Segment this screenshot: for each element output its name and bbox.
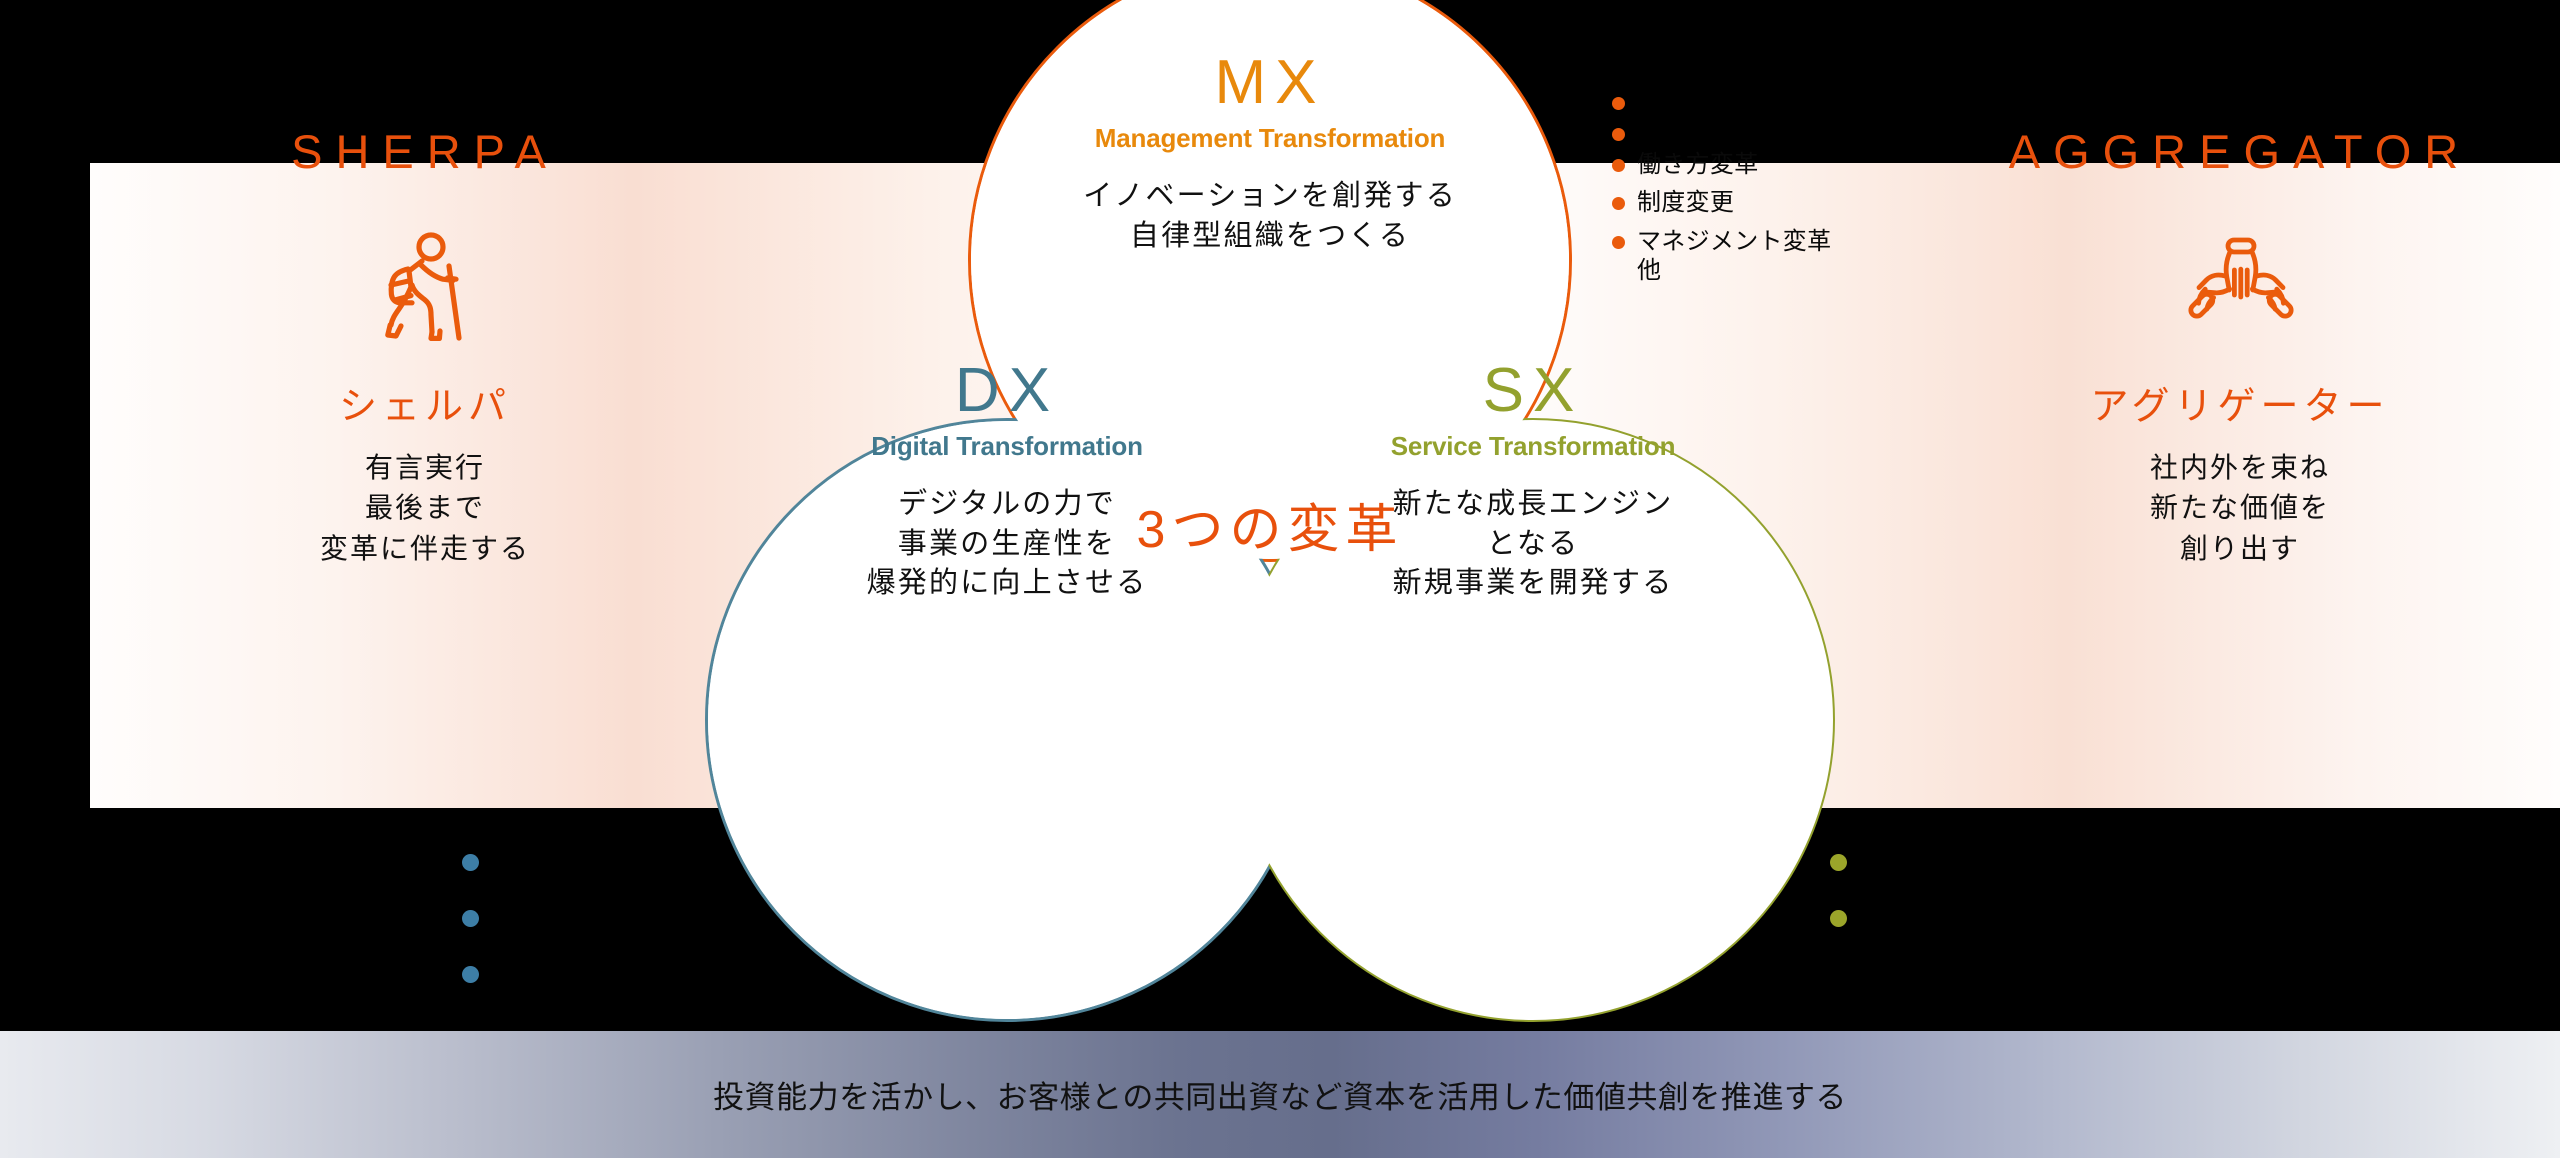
hiker-with-backpack-icon xyxy=(165,223,685,348)
venn-abbr-dx: DX xyxy=(705,360,1309,422)
list-item xyxy=(462,845,792,871)
list-item xyxy=(1830,845,2160,871)
bullet-dot-icon xyxy=(462,910,479,927)
venn-abbr-sx: SX xyxy=(1231,360,1835,422)
venn-description-dx-line3: 爆発的に向上させる xyxy=(705,564,1309,604)
sherpa-description-line3: 変革に伴走する xyxy=(165,529,685,569)
aggregator-eyebrow: AGGREGATOR xyxy=(1980,128,2500,175)
venn-content-dx: DX Digital Transformation デジタルの力で 事業の生産性… xyxy=(705,360,1309,604)
center-label-three-transformations: 3つの変革 xyxy=(1030,487,1510,562)
list-item: 制度変更 xyxy=(1612,188,1942,217)
bullet-list-mx: 働き方変革 制度変更 マネジメント変革 他 xyxy=(1612,88,1942,294)
aggregator-description-line2: 新たな価値を xyxy=(1980,488,2500,528)
list-item xyxy=(1612,88,1942,110)
aggregator-description: 社内外を束ね 新たな価値を 創り出す xyxy=(1980,448,2500,569)
venn-fullname-sx: Service Transformation xyxy=(1231,433,1835,459)
bullet-list-dx xyxy=(462,845,792,1013)
venn-description-mx-line2: 自律型組織をつくる xyxy=(968,217,1572,257)
bullet-list-sx xyxy=(1830,845,2160,957)
sherpa-description: 有言実行 最後まで 変革に伴走する xyxy=(165,448,685,569)
list-item: 働き方変革 xyxy=(1612,150,1942,179)
venn-content-mx: MX Management Transformation イノベーションを創発す… xyxy=(968,52,1572,256)
list-item xyxy=(1612,119,1942,141)
venn-fullname-mx: Management Transformation xyxy=(968,125,1572,151)
bullet-dot-icon xyxy=(462,854,479,871)
bullet-dot-icon xyxy=(1830,854,1847,871)
aggregator-column: AGGREGATOR アグリゲーター 社内外を束ね 新たな価値を 創り出す xyxy=(1980,128,2500,569)
sherpa-description-line1: 有言実行 xyxy=(165,448,685,488)
list-item xyxy=(462,901,792,927)
venn-content-sx: SX Service Transformation 新たな成長エンジン となる … xyxy=(1231,360,1835,604)
bullet-dot-icon xyxy=(1612,197,1625,210)
venn-abbr-mx: MX xyxy=(968,52,1572,114)
bullet-dot-icon xyxy=(1612,97,1625,110)
venn-fullname-dx: Digital Transformation xyxy=(705,433,1309,459)
bullet-dot-icon xyxy=(1830,910,1847,927)
list-item xyxy=(462,957,792,983)
bullet-label: 制度変更 xyxy=(1637,188,1734,217)
list-item xyxy=(1830,901,2160,927)
sherpa-description-line2: 最後まで xyxy=(165,488,685,528)
sherpa-title: シェルパ xyxy=(165,388,685,426)
bullet-dot-icon xyxy=(1612,236,1625,249)
aggregator-title: アグリゲーター xyxy=(1980,388,2500,426)
bullet-dot-icon xyxy=(1612,159,1625,172)
bullet-dot-icon xyxy=(462,966,479,983)
venn-description-mx-line1: イノベーションを創発する xyxy=(968,177,1572,217)
bullet-label: マネジメント変革 他 xyxy=(1637,227,1831,286)
venn-description-mx: イノベーションを創発する 自律型組織をつくる xyxy=(968,177,1572,256)
footer-caption-text: 投資能力を活かし、お客様との共同出資など資本を活用した価値共創を推進する xyxy=(713,1072,1847,1117)
three-joined-hands-icon xyxy=(1980,223,2500,348)
list-item: マネジメント変革 他 xyxy=(1612,227,1942,286)
bullet-label: 働き方変革 xyxy=(1637,150,1759,179)
sherpa-column: SHERPA シェルパ 有言実行 最後まで 変革に伴走する xyxy=(165,128,685,569)
sherpa-eyebrow: SHERPA xyxy=(165,128,685,175)
bullet-dot-icon xyxy=(1612,128,1625,141)
venn-description-sx-line3: 新規事業を開発する xyxy=(1231,564,1835,604)
footer-caption-bar: 投資能力を活かし、お客様との共同出資など資本を活用した価値共創を推進する xyxy=(0,1031,2560,1158)
aggregator-description-line1: 社内外を束ね xyxy=(1980,448,2500,488)
aggregator-description-line3: 創り出す xyxy=(1980,529,2500,569)
